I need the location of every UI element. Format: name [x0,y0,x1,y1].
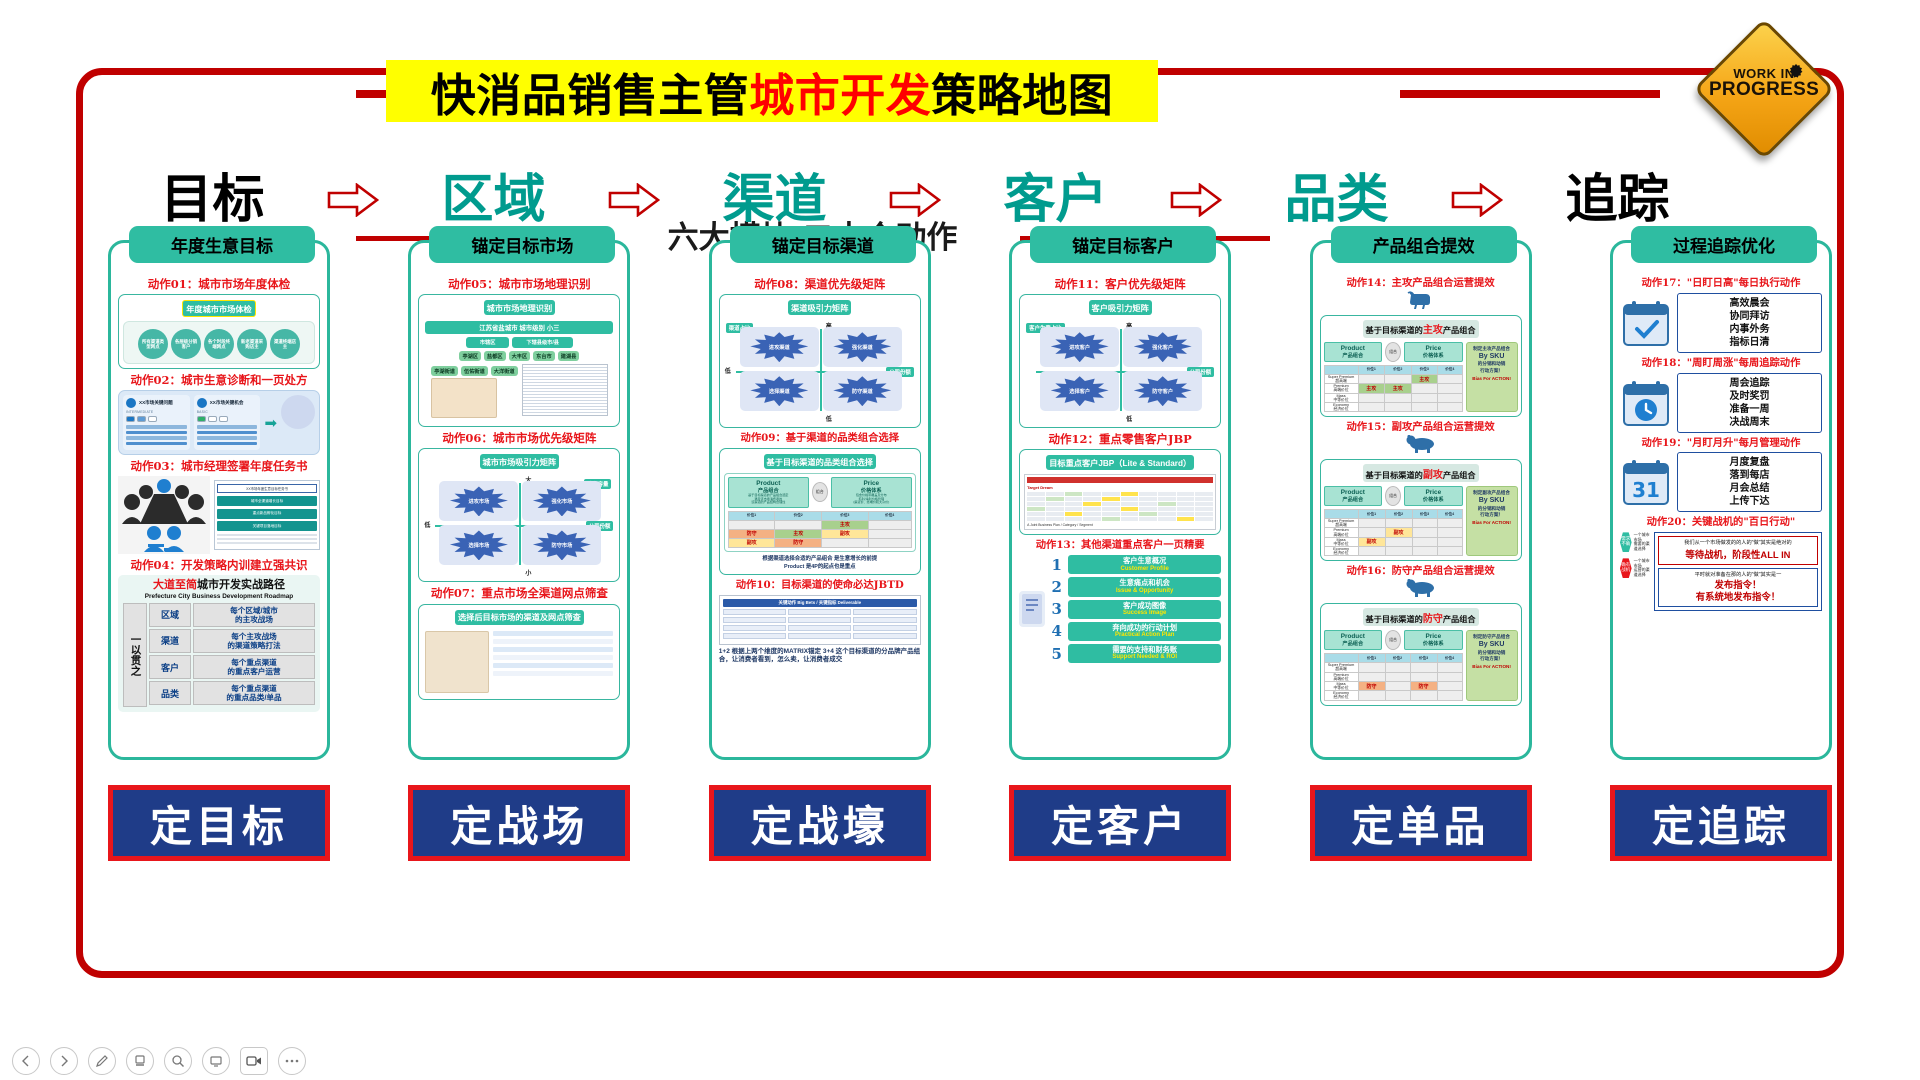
roadmap-title-black: 城市开发实战路径 [197,579,285,591]
calendar-31-icon: 31 [1620,456,1672,508]
secondary-attack-panel: 基于目标渠道的副攻产品组合 Product产品组合 组合 Price价格体系 价… [1320,459,1522,561]
action-05-label: 动作05：城市市场地理识别 [418,278,620,291]
column-process-tracking: 过程追踪优化 动作17："日盯日高"每日执行动作 高效晨会 协同拜访 内事外务 … [1610,240,1832,760]
stamp-row: 定目标 定战场 定战壕 定客户 定单品 定追踪 [108,785,1832,865]
action-09-label: 动作09：基于渠道的品类组合选择 [719,433,921,445]
list-number: 1 [1050,556,1063,574]
grid-col-head: 价位2 [1385,510,1412,519]
daily-actions-box: 高效晨会 协同拜访 内事外务 指标日清 [1677,293,1822,353]
market-data-grid [522,364,608,416]
price-desc: 包含价格带覆盖及分布 毛利/净利价格管理 (渠道价、终端价和大众价) [833,494,910,505]
grid-hit: 副攻 [1385,528,1412,537]
stamp-goal: 定目标 [108,785,330,861]
main-attack-body: Product产品组合 组合 Price价格体系 价位1价位2价位3价位4 Su… [1324,342,1518,412]
grid-col-head: 价位4 [868,511,911,520]
calendar-clock-icon [1620,377,1672,429]
weekly-row: 周会追踪 及时奖罚 准备一周 决战周末 [1620,373,1822,433]
action-17-label: 动作17："日盯日高"每日执行动作 [1620,278,1822,290]
present-icon[interactable] [240,1047,268,1075]
roadmap-panel: 大道至简城市开发实战路径 Prefecture City Business De… [118,575,320,712]
checkup-box: 所有渠道类型网点 各层级分销客户 各个时段终端网点 新老渠道采购店主 渠道终端店… [123,321,315,364]
category-mix-panel: 基于目标渠道的品类组合选择 Product 产品组合 基于目标渠道的产品组合选定… [719,448,921,575]
roadmap-left-text: 一以贯之 [129,634,140,676]
stamp-label: 定战壕 [751,793,889,854]
grid-col-head: 价位1 [728,511,775,520]
stamp-label: 定客户 [1051,793,1189,854]
opportunity-hex-icon: 确有战机 [1620,558,1632,578]
list-en: Success Image [1070,610,1219,617]
jbtd-panel: 关键动作 Big Bets / 关键指标 Deliverable [719,595,921,645]
matrix-star: 防守市场 [533,530,591,560]
screening-title: 选择后目标市场的渠道及网点筛查 [455,610,584,625]
column-3-header: 锚定目标渠道 [730,226,916,263]
action-19-label: 动作19："月盯月升"每月管理动作 [1620,438,1822,450]
signing-panel: XX市场年度生意目标任务书 城市全渠道增长目标 重点新品孵化目标 关键项目落地目… [118,476,320,554]
wait-block: 我们从一个市场做发的的人的"做"其实是绝对的 等待战机，阶段性ALL IN [1658,536,1818,565]
grid-hit: 主攻 [1358,384,1384,393]
customer-matrix-panel: 客户吸引力矩阵 高 低 客户生意占比 公司份额 进攻客户 强化客户 选择客户 防… [1019,294,1221,428]
mix-title: 基于目标渠道的品类组合选择 [764,454,876,469]
tier-label: Premium高端价位 [1324,528,1358,537]
product-price-header: Product产品组合 组合 Price价格体系 [1324,486,1463,506]
screening-map [425,631,489,693]
product-box: Product 产品组合 基于目标渠道的产品组合选定 满足该市场消费者的 该渠道… [728,477,809,508]
checkup-pill: 各层级分销客户 [171,329,201,359]
matrix-star: 防守渠道 [833,376,891,406]
action-12-label: 动作12：重点零售客户JBP [1019,433,1221,446]
gear-icon [1786,63,1806,83]
stage-arrow-5 [1439,183,1515,217]
column-4-header: 锚定目标客户 [1030,226,1216,263]
list-item: 2 生意痛点和机会Issue & Opportunity [1050,577,1221,596]
highlighter-icon[interactable] [126,1047,154,1075]
grid-hit: 防守 [775,538,822,547]
combine-label: 组合 [1385,342,1401,362]
hundred-day-panel: 我们从一个市场做发的的人的"做"其实是绝对的 等待战机，阶段性ALL IN 平时… [1654,532,1822,611]
badge-text: 一个城市市场 运营的渠道选择 [1634,559,1650,577]
stage-arrow-1 [315,183,391,217]
jbtd-col [723,609,786,641]
title-rule-right [1400,90,1660,98]
calendar-check-icon [1620,297,1672,349]
diag-squares [197,416,258,422]
geo-node: 市辖区 [466,337,510,348]
action-04-label: 动作04：开发策略内训建立强共识 [118,559,320,572]
stage-label-tracking: 追踪 [1515,174,1720,226]
title-pre: 基于目标渠道的 [1366,326,1423,335]
action-02-label: 动作02：城市生意诊断和一页处方 [118,374,320,387]
stage-label-category: 品类 [1234,174,1439,226]
roadmap-value: 每个重点渠道 的重点品类/单品 [193,681,315,705]
stamp-label: 定单品 [1352,793,1490,854]
title-pre: 基于目标渠道的 [1366,615,1423,624]
stage-header-row: 目标 区域 渠道 客户 品类 追踪 [110,160,1830,240]
jbtd-col [788,609,851,641]
stamp-tracking: 定追踪 [1610,785,1832,861]
price-en: Price [1406,345,1461,352]
product-price-header: Product产品组合 组合 Price价格体系 [1324,342,1463,362]
price-box: Price价格体系 [1404,486,1463,506]
price-cn: 价格体系 [1406,640,1461,647]
price-box: Price 价格体系 包含价格带覆盖及分布 毛利/净利价格管理 (渠道价、终端价… [831,477,912,508]
grid-hit: 副攻 [1358,537,1385,546]
column-annual-goal: 年度生意目标 动作01：城市市场年度体检 年度城市市场体检 所有渠道类型网点 各… [108,240,330,760]
geo-tree-row: 亭湖街道 伍佑街道 大洋街道 [431,366,517,376]
grid-hit: 防守 [1358,681,1385,690]
geo-level-node: 江苏省盐城市 城市级别 小三 [425,321,613,334]
checkup-title: 年度城市市场体检 [182,300,256,317]
column-2-header: 锚定目标市场 [429,226,615,263]
document-row: 城市全渠道增长目标 [217,496,317,506]
pp-wrap: Product产品组合 组合 Price价格体系 价位1价位2价位3价位4 Su… [1324,342,1463,412]
product-desc: 基于目标渠道的产品组合选定 满足该市场消费者的 该渠道的产品结构合理性 [730,494,807,505]
geo-panel: 城市市场地理识别 江苏省盐城市 城市级别 小三 市辖区 下辖县级市/县 亭湖区 … [418,294,620,427]
daily-row: 高效晨会 协同拜访 内事外务 指标日清 [1620,293,1822,353]
roadmap-value: 每个重点渠道 的重点客户运营 [193,655,315,679]
matrix-cells: 进攻客户 强化客户 选择客户 防守客户 [1028,325,1212,419]
tier-label: Economy经济价位 [1324,402,1358,411]
matrix-cell: 选择渠道 [740,371,819,411]
matrix-star: 进攻客户 [1051,332,1109,362]
roadmap-key: 品类 [149,681,191,705]
grid-hit: 主攻 [1385,384,1411,393]
list-item: 5 需要的支持和财务账Support Needed & ROI [1050,644,1221,663]
matrix-star: 强化客户 [1134,332,1192,362]
stamp-sku: 定单品 [1310,785,1532,861]
stamp-label: 定目标 [150,793,288,854]
matrix-star: 强化市场 [533,486,591,516]
list-number: 2 [1050,578,1063,596]
bear-icon [1320,435,1522,458]
geo-node: 盐都区 [484,351,506,361]
geo-node: 伍佑街道 [461,366,488,376]
monthly-actions-box: 月度复盘 落到每店 月会总结 上传下达 [1677,452,1822,512]
tier-label: Mass中等价位 [1324,393,1358,402]
price-en: Price [833,480,910,487]
matrix-cell: 进攻渠道 [740,327,819,367]
geo-tree-row: 市辖区 下辖县级市/县 [425,337,613,348]
product-price-block: Product 产品组合 基于目标渠道的产品组合选定 满足该市场消费者的 该渠道… [724,473,916,552]
tier-label: Super Premium超高端 [1324,663,1358,672]
jbtd-body [723,609,917,641]
list-bar: 客户成功图像Success Image [1068,600,1221,619]
stamp-battlefield: 定战场 [408,785,630,861]
secondary-attack-title: 基于目标渠道的副攻产品组合 [1363,464,1479,482]
grid-col-head: 价位3 [1412,510,1437,519]
matrix-star: 强化渠道 [833,332,891,362]
cta-bias: Bias For ACTION! [1469,664,1515,670]
action-10-label: 动作10：目标渠道的使命必达JBTD [719,580,921,592]
badge-text: 一个城市市场 需要的渠道选择 [1634,533,1650,551]
tier-label: Economy经济价位 [1324,547,1358,556]
product-en: Product [1326,489,1381,496]
list-bar: 奔向成功的行动计划Practical Action Plan [1068,622,1221,641]
cta-line2: 的分销和动销 行动方案！ [1469,506,1515,518]
title-post: 产品组合 [1443,471,1476,480]
geo-node: 大丰区 [509,351,531,361]
diag-subtitle: INTERMEDIATE [126,410,187,414]
list-en: Support Needed & ROI [1070,654,1219,661]
title-red: 防守 [1423,614,1443,625]
product-box: Product产品组合 [1324,486,1383,506]
sheet-header-bar [1027,477,1213,483]
roadmap-title-red: 大道至简 [153,579,197,591]
prev-icon[interactable] [12,1047,40,1075]
roadmap-table: 一以贯之 区域 每个区域/城市 的主攻战场 渠道 每个主攻战场 的渠道策略打法 … [123,603,315,708]
geo-title: 城市市场地理识别 [484,300,556,315]
roadmap-rows: 区域 每个区域/城市 的主攻战场 渠道 每个主攻战场 的渠道策略打法 客户 每个… [149,603,315,708]
grid-col-head: 价位2 [775,511,822,520]
list-item: 3 客户成功图像Success Image [1050,600,1221,619]
grid-col-head: 价位2 [1385,654,1410,663]
document-row: 关键项目落地目标 [217,521,317,531]
matrix-star: 进攻市场 [450,486,508,516]
pen-icon[interactable] [88,1047,116,1075]
tier-grid: 价位1价位2价位3价位4 Super Premium超高端主攻 Premium高… [1324,365,1463,412]
market-attractiveness-panel: 城市市场吸引力矩阵 大 小 低 城市容量 公司份额 进攻市场 强化市场 选择市场… [418,448,620,582]
jbtd-header-text: 关键动作 Big Bets / 关键指标 Deliverable [723,599,917,607]
badge-item: 需求不确 一个城市市场 需要的渠道选择 [1620,532,1650,552]
diag-card-header: XX市场关键机会 [197,398,258,408]
title-red: 主攻 [1423,325,1443,336]
diag-bars [126,425,187,445]
roadmap-left-label: 一以贯之 [123,603,147,708]
roadmap-subtitle: Prefecture City Business Development Roa… [123,593,315,600]
checkup-pill: 渠道终端店主 [270,329,300,359]
product-cn: 产品组合 [1326,352,1381,359]
list-item: 4 奔向成功的行动计划Practical Action Plan [1050,622,1221,641]
matrix-cell: 防守市场 [522,525,601,565]
matrix-cell: 进攻市场 [439,481,518,521]
combine-label: 组合 [1385,630,1401,650]
annual-checkup-panel: 年度城市市场体检 所有渠道类型网点 各层级分销客户 各个时段终端网点 新老渠道采… [118,294,320,369]
stage-label-region: 区域 [391,174,596,226]
price-en: Price [1406,633,1461,640]
roadmap-value: 每个主攻战场 的渠道策略打法 [193,629,315,653]
more-icon[interactable] [278,1047,306,1075]
mix-note: 根据渠道选择合适的产品组合 是生意增长的前提 Product 是4P的起点也是重… [724,554,916,570]
stage-arrow-3 [877,183,953,217]
diag-subtitle: BASIC [197,410,258,414]
action-06-label: 动作06：城市市场优先级矩阵 [418,432,620,445]
column-product-mix: 产品组合提效 动作14：主攻产品组合运营提效 基于目标渠道的主攻产品组合 Pro… [1310,240,1532,760]
action-14-label: 动作14：主攻产品组合运营提效 [1320,278,1522,290]
price-cn: 价格体系 [1406,352,1461,359]
jbtd-col [853,609,916,641]
geo-tree-row: 亭湖区 盐都区 大丰区 东台市 建湖县 [425,351,613,361]
matrix-cell: 选择客户 [1040,371,1119,411]
stage-arrow-4 [1158,183,1234,217]
secondary-attack-cta: 制定副攻产品组合 By SKU 的分销和动销 行动方案！ Bias For AC… [1466,486,1518,556]
sheet-grid [1027,492,1213,521]
product-en: Product [1326,633,1381,640]
matrix-cells: 进攻市场 强化市场 选择市场 防守市场 [427,479,611,573]
customer-matrix-title: 客户吸引力矩阵 [1089,300,1152,315]
cta-line2: 的分销和动销 行动方案！ [1469,361,1515,373]
matrix-cell: 强化渠道 [823,327,902,367]
stage-label-channel: 渠道 [672,174,877,226]
jbp-note: A Joint Business Plan / Category / Segme… [1027,523,1213,527]
map-thumbnail [431,378,497,418]
badge-label: WORK IN PROGRESS [1700,67,1828,99]
list-en: Issue & Opportunity [1070,588,1219,595]
defend-cta: 制定防守产品组合 By SKU 的分销和动销 行动方案！ Bias For AC… [1466,630,1518,700]
matrix-star: 选择市场 [450,530,508,560]
product-price-header: Product 产品组合 基于目标渠道的产品组合选定 满足该市场消费者的 该渠道… [728,477,912,508]
title-post: 产品组合 [1443,326,1476,335]
product-box: Product产品组合 [1324,630,1383,650]
list-cn: 奔向成功的行动计划 [1070,624,1219,632]
cta-sku: By SKU [1469,496,1515,505]
grid-col-head: 价位4 [1437,654,1462,663]
attractiveness-title: 城市市场吸引力矩阵 [480,454,560,469]
work-in-progress-badge: WORK IN PROGRESS [1700,25,1828,153]
roadmap-value: 每个区域/城市 的主攻战场 [193,603,315,627]
viewer-toolbar[interactable] [0,1042,1920,1080]
tier-label: Mass中等价位 [1324,537,1358,546]
geo-tree: 江苏省盐城市 城市级别 小三 市辖区 下辖县级市/县 亭湖区 盐都区 大丰区 东… [423,319,615,422]
list-bar: 客户生意概况Customer Profile [1068,555,1221,574]
product-price-header: Product产品组合 组合 Price价格体系 [1324,630,1463,650]
module-columns: 年度生意目标 动作01：城市市场年度体检 年度城市市场体检 所有渠道类型网点 各… [108,240,1832,765]
arrow-right-icon: ➡ [264,414,277,432]
attractiveness-matrix: 大 小 低 城市容量 公司份额 进攻市场 强化市场 选择市场 防守市场 [423,473,615,577]
grid-col-head: 价位3 [822,511,869,520]
grid-col-head: 价位1 [1358,365,1384,374]
list-cn: 客户成功图像 [1070,602,1219,610]
defend-panel: 基于目标渠道的防守产品组合 Product产品组合 组合 Price价格体系 价… [1320,603,1522,705]
stamp-customer: 定客户 [1009,785,1231,861]
title-red: 副攻 [1423,470,1443,481]
grid-hit: 主攻 [822,520,869,529]
geo-node: 建湖县 [558,351,580,361]
product-cn: 产品组合 [1326,496,1381,503]
list-bar: 生意痛点和机会Issue & Opportunity [1068,577,1221,596]
geo-node: 大洋街道 [491,366,518,376]
price-en: Price [1406,489,1461,496]
meeting-people-icon [118,476,210,554]
main-attack-panel: 基于目标渠道的主攻产品组合 Product产品组合 组合 Price价格体系 价… [1320,315,1522,417]
roadmap-key: 区域 [149,603,191,627]
diag-squares [126,416,187,422]
matrix-cell: 强化市场 [522,481,601,521]
grid-col-head: 价位3 [1411,365,1437,374]
tier-grid: 价位1价位2价位3价位4 Super Premium超高端 Premium高端价… [1324,653,1463,700]
list-en: Practical Action Plan [1070,632,1219,639]
one-pager-block: 1 客户生意概况Customer Profile 2 生意痛点和机会Issue … [1019,555,1221,663]
bull-icon [1320,291,1522,314]
jbtd-footnote: 1+2 根据上两个维度的MATRIX锚定 3+4 这个目标渠道的分品牌产品组合，… [719,648,921,664]
list-cn: 客户生意概况 [1070,557,1219,565]
jbp-title: 目标重点客户JBP（Lite & Standard） [1046,455,1194,470]
column-target-market: 锚定目标市场 动作05：城市市场地理识别 城市市场地理识别 江苏省盐城市 城市级… [408,240,630,760]
product-cn: 产品组合 [1326,640,1381,647]
list-bar: 需要的支持和财务账Support Needed & ROI [1068,644,1221,663]
geo-node: 东台市 [533,351,555,361]
list-number: 3 [1050,600,1063,618]
diagnosis-card-issues: XX市场关键问题 INTERMEDIATE [123,395,190,450]
product-en: Product [730,480,807,487]
column-6-header: 过程追踪优化 [1631,226,1817,263]
matrix-cell: 防守客户 [1123,371,1202,411]
user-icon [197,398,207,408]
jbp-panel: 目标重点客户JBP（Lite & Standard） Target Dream … [1019,449,1221,535]
tier-label: Super Premium超高端 [1324,519,1358,528]
grid-col-head: 价位4 [1438,365,1463,374]
profile-numbered-list: 1 客户生意概况Customer Profile 2 生意痛点和机会Issue … [1050,555,1221,663]
roadmap-row: 渠道 每个主攻战场 的渠道策略打法 [149,629,315,653]
action-16-label: 动作16：防守产品组合运营提效 [1320,566,1522,578]
grid-hit: 主攻 [775,529,822,538]
list-item: 1 客户生意概况Customer Profile [1050,555,1221,574]
demand-hex-icon: 需求不确 [1620,532,1632,552]
grid-col-head: 价位2 [1385,365,1411,374]
matrix-star: 选择渠道 [750,376,808,406]
diag-bars [197,425,258,445]
monthly-row: 31 月度复盘 落到每店 月会总结 上传下达 [1620,452,1822,512]
stamp-label: 定追踪 [1652,793,1790,854]
task-document: XX市场年度生意目标任务书 城市全渠道增长目标 重点新品孵化目标 关键项目落地目… [214,480,320,550]
grid-hit: 防守 [728,529,775,538]
combine-label: 组合 [812,482,828,502]
roadmap-title: 大道至简城市开发实战路径 [123,579,315,591]
matrix-star: 防守客户 [1134,376,1192,406]
product-box: Product产品组合 [1324,342,1383,362]
list-number: 4 [1050,622,1063,640]
subtitle-band: 六大模块 二十个动作 [0,108,1920,148]
screening-body [423,629,615,695]
matrix-cell: 防守渠道 [823,371,902,411]
cta-line2: 的分销和动销 行动方案！ [1469,650,1515,662]
hundred-day-row: 需求不确 一个城市市场 需要的渠道选择 确有战机 一个城市市场 运营的渠道选择 … [1620,532,1822,611]
combine-label: 组合 [1385,486,1401,506]
trigger-badges: 需求不确 一个城市市场 需要的渠道选择 确有战机 一个城市市场 运营的渠道选择 [1620,532,1650,611]
roadmap-row: 品类 每个重点渠道 的重点品类/单品 [149,681,315,705]
action-20-label: 动作20：关键战机的"百日行动" [1620,517,1822,529]
defend-body: Product产品组合 组合 Price价格体系 价位1价位2价位3价位4 Su… [1324,630,1518,700]
tier-label: Super Premium超高端 [1324,374,1358,383]
matrix-star: 选择客户 [1051,376,1109,406]
zoom-icon[interactable] [164,1047,192,1075]
tier-label: Premium高端价位 [1324,384,1358,393]
screening-notes [493,631,613,693]
next-icon[interactable] [50,1047,78,1075]
weekly-actions-box: 周会追踪 及时奖罚 准备一周 决战周末 [1677,373,1822,433]
list-cn: 需要的支持和财务账 [1070,646,1219,654]
customer-attractiveness-matrix: 高 低 客户生意占比 公司份额 进攻客户 强化客户 选择客户 防守客户 [1024,319,1216,423]
column-target-customer: 锚定目标客户 动作11：客户优先级矩阵 客户吸引力矩阵 高 低 客户生意占比 公… [1009,240,1231,760]
document-row: 重点新品孵化目标 [217,509,317,519]
document-icon [1019,591,1045,627]
roadmap-row: 客户 每个重点渠道 的重点客户运营 [149,655,315,679]
pp-wrap: Product产品组合 组合 Price价格体系 价位1价位2价位3价位4 Su… [1324,486,1463,556]
grid-hit: 主攻 [1411,374,1437,383]
checkup-pills: 所有渠道类型网点 各层级分销客户 各个时段终端网点 新老渠道采购店主 渠道终端店… [127,329,311,359]
stage-arrow-2 [596,183,672,217]
cta-bias: Bias For ACTION! [1469,376,1515,382]
diag-card-header: XX市场关键问题 [126,398,187,408]
price-tier-grid: 价位1价位2价位3价位4 主攻 防守主攻副攻 副攻防守 [728,511,912,548]
stage-label-customer: 客户 [953,174,1158,226]
list-number: 5 [1050,645,1063,663]
column-5-header: 产品组合提效 [1331,226,1517,263]
screen-icon[interactable] [202,1047,230,1075]
geo-node: 下辖县级市/县 [512,337,573,348]
order-block: 平时就对准备在那的人的"做"其实是一 发布指令！ 有系统地发布指令！ [1658,568,1818,607]
pp-wrap: Product产品组合 组合 Price价格体系 价位1价位2价位3价位4 Su… [1324,630,1463,700]
action-15-label: 动作15：副攻产品组合运营提效 [1320,422,1522,434]
diag-title: XX市场关键问题 [139,400,173,406]
